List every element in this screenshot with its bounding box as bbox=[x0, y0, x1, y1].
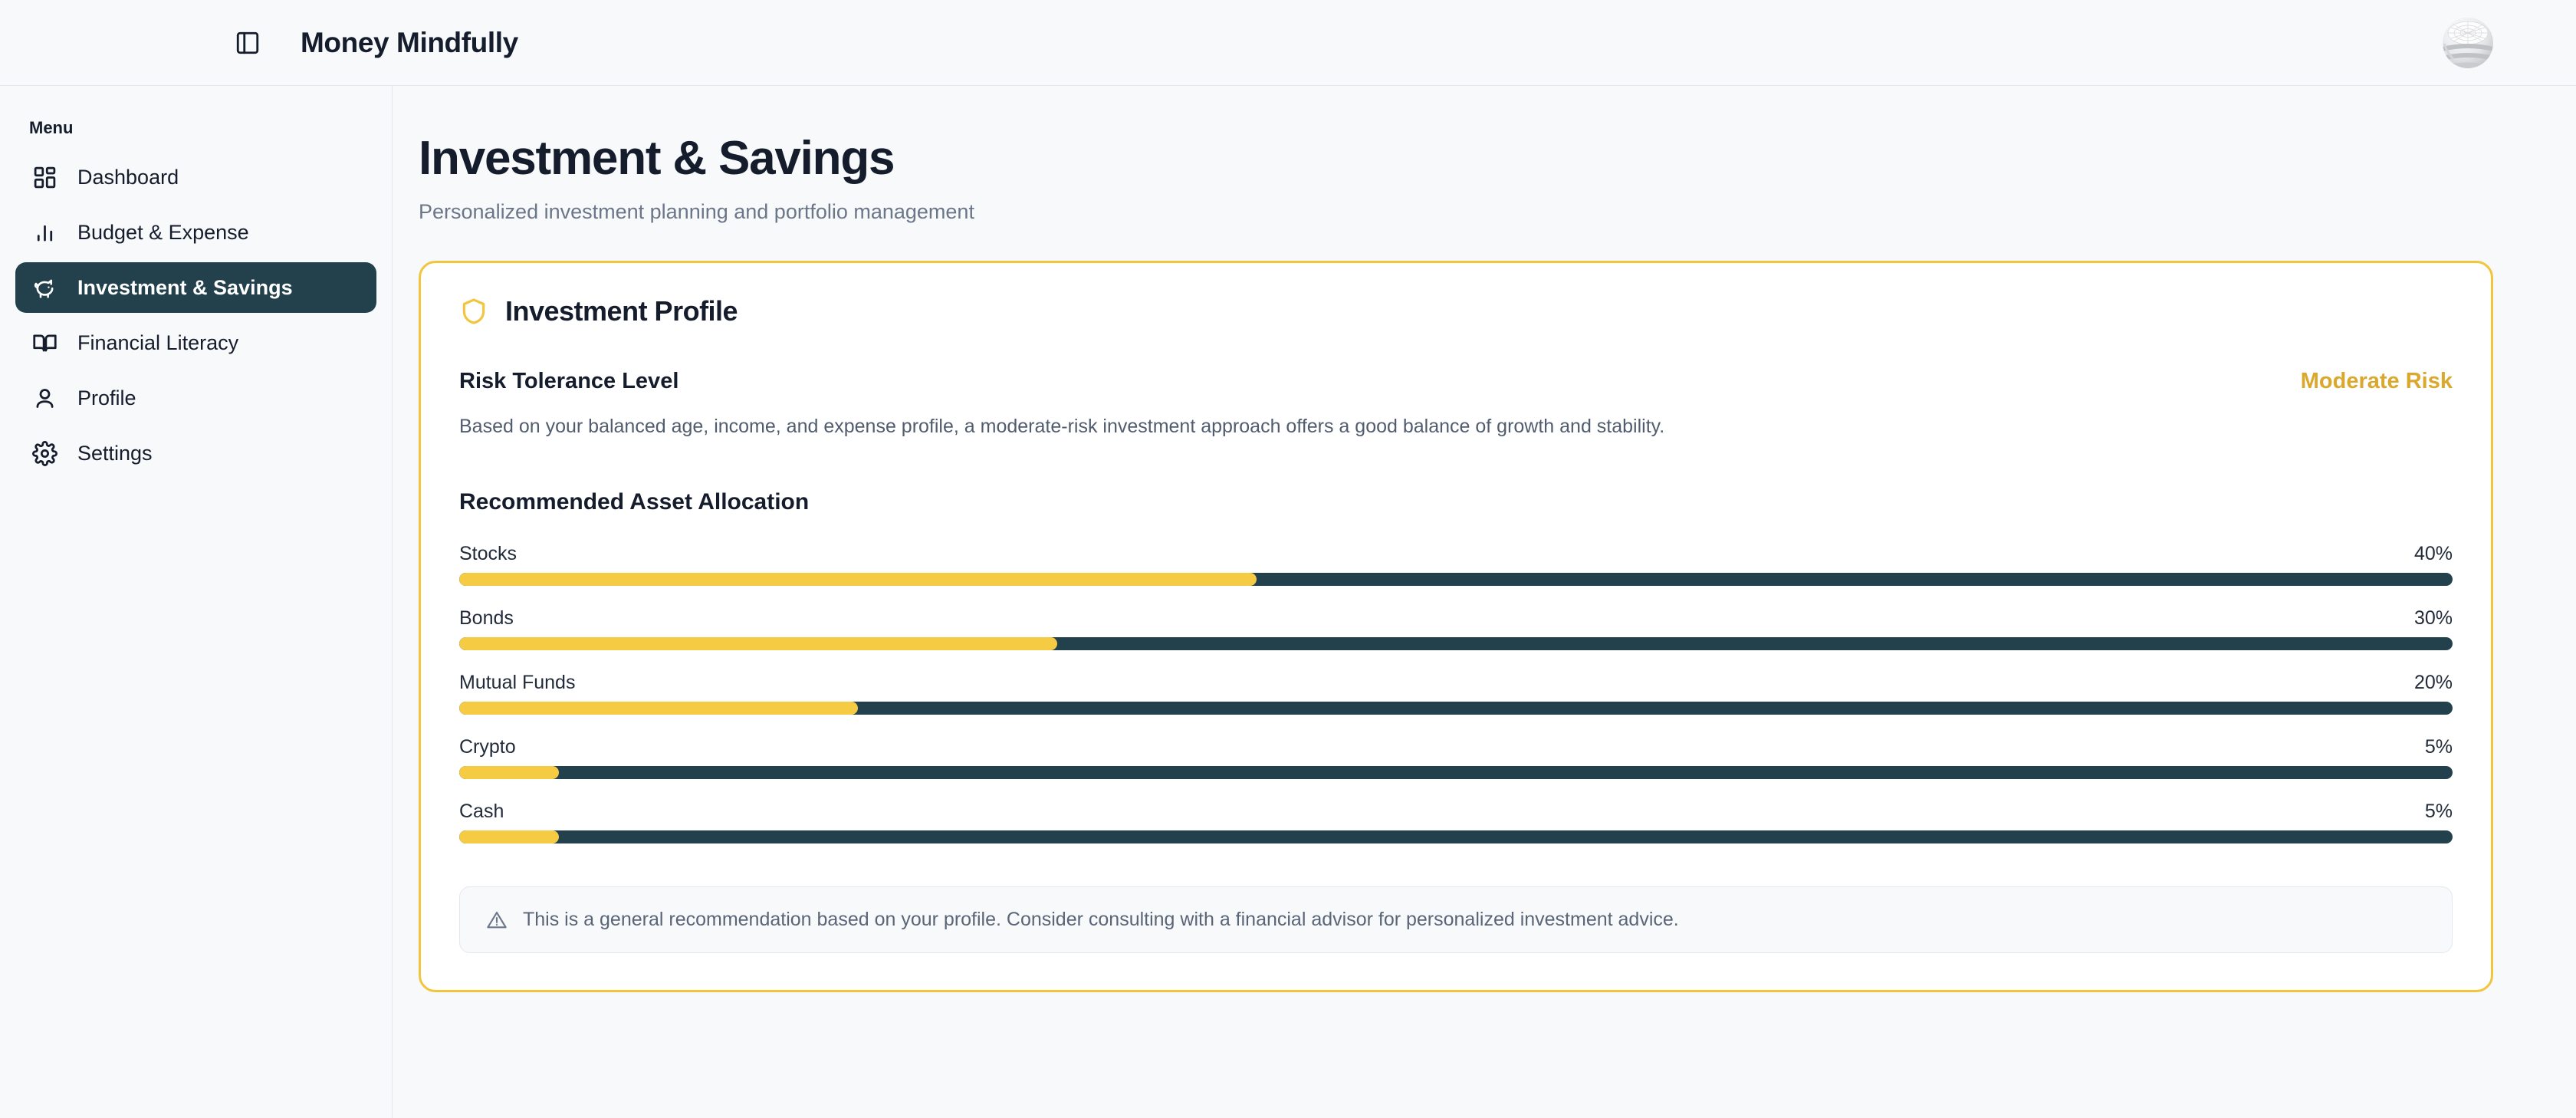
top-bar: Money Mindfully bbox=[0, 0, 2576, 86]
grid-icon bbox=[32, 165, 58, 190]
allocation-bar-fill bbox=[459, 573, 1257, 586]
sidebar-item-dashboard[interactable]: Dashboard bbox=[15, 152, 376, 202]
allocation-label: Cash bbox=[459, 801, 504, 823]
user-icon bbox=[32, 386, 58, 411]
disclaimer-note: This is a general recommendation based o… bbox=[459, 886, 2453, 953]
top-bar-left: Money Mindfully bbox=[0, 27, 518, 59]
allocation-bar-fill bbox=[459, 766, 559, 779]
sidebar-item-label: Budget & Expense bbox=[77, 221, 249, 245]
allocation-bar-track bbox=[459, 766, 2453, 779]
allocation-value: 5% bbox=[2425, 801, 2453, 823]
risk-tolerance-heading: Risk Tolerance Level bbox=[459, 369, 678, 394]
allocation-bar-fill bbox=[459, 830, 559, 843]
allocation-line: Mutual Funds 20% bbox=[459, 672, 2453, 694]
allocation-bar-track bbox=[459, 637, 2453, 650]
avatar[interactable] bbox=[2443, 18, 2493, 68]
sidebar-item-label: Settings bbox=[77, 442, 153, 465]
card-header: Investment Profile bbox=[459, 295, 2453, 327]
gear-icon bbox=[32, 441, 58, 466]
allocation-label: Crypto bbox=[459, 736, 516, 758]
allocation-heading: Recommended Asset Allocation bbox=[459, 489, 2453, 515]
sidebar-toggle-icon[interactable] bbox=[235, 30, 261, 56]
risk-description: Based on your balanced age, income, and … bbox=[459, 413, 2453, 440]
risk-level-badge: Moderate Risk bbox=[2301, 369, 2453, 394]
sidebar-item-label: Financial Literacy bbox=[77, 331, 238, 355]
main-content: Investment & Savings Personalized invest… bbox=[393, 86, 2576, 1118]
allocation-row-mutual-funds: Mutual Funds 20% bbox=[459, 672, 2453, 715]
allocation-line: Bonds 30% bbox=[459, 607, 2453, 630]
allocation-line: Stocks 40% bbox=[459, 543, 2453, 565]
sidebar-item-label: Investment & Savings bbox=[77, 276, 293, 300]
allocation-value: 30% bbox=[2414, 607, 2453, 630]
allocation-value: 40% bbox=[2414, 543, 2453, 565]
card-title: Investment Profile bbox=[505, 295, 738, 327]
allocation-bar-fill bbox=[459, 637, 1057, 650]
allocation-label: Mutual Funds bbox=[459, 672, 575, 694]
sidebar-item-label: Dashboard bbox=[77, 166, 179, 189]
allocation-value: 5% bbox=[2425, 736, 2453, 758]
allocation-bar-track bbox=[459, 702, 2453, 715]
allocation-row-crypto: Crypto 5% bbox=[459, 736, 2453, 779]
allocation-label: Bonds bbox=[459, 607, 514, 630]
allocation-bar-track bbox=[459, 830, 2453, 843]
allocation-value: 20% bbox=[2414, 672, 2453, 694]
brand-title: Money Mindfully bbox=[301, 27, 518, 59]
page-title: Investment & Savings bbox=[419, 133, 2493, 183]
sidebar-item-profile[interactable]: Profile bbox=[15, 373, 376, 423]
allocation-row-cash: Cash 5% bbox=[459, 801, 2453, 843]
allocation-line: Crypto 5% bbox=[459, 736, 2453, 758]
sidebar-item-financial-literacy[interactable]: Financial Literacy bbox=[15, 317, 376, 368]
allocation-bar-fill bbox=[459, 702, 858, 715]
allocation-label: Stocks bbox=[459, 543, 517, 565]
sidebar: Menu Dashboard Budget & Expense bbox=[0, 86, 393, 1118]
sidebar-item-budget-expense[interactable]: Budget & Expense bbox=[15, 207, 376, 258]
sidebar-item-investment-savings[interactable]: Investment & Savings bbox=[15, 262, 376, 313]
book-open-icon bbox=[32, 330, 58, 356]
shield-icon bbox=[459, 297, 488, 326]
warning-triangle-icon bbox=[486, 909, 508, 931]
app-shell: Menu Dashboard Budget & Expense bbox=[0, 86, 2576, 1118]
allocation-row-bonds: Bonds 30% bbox=[459, 607, 2453, 650]
piggy-bank-icon bbox=[32, 275, 58, 301]
risk-tolerance-row: Risk Tolerance Level Moderate Risk bbox=[459, 369, 2453, 394]
allocation-line: Cash 5% bbox=[459, 801, 2453, 823]
allocation-bar-track bbox=[459, 573, 2453, 586]
sidebar-item-label: Profile bbox=[77, 386, 136, 410]
sidebar-section-label: Menu bbox=[15, 106, 376, 152]
page-subtitle: Personalized investment planning and por… bbox=[419, 200, 2493, 224]
disclaimer-text: This is a general recommendation based o… bbox=[523, 909, 1679, 931]
sidebar-item-settings[interactable]: Settings bbox=[15, 428, 376, 478]
investment-profile-card: Investment Profile Risk Tolerance Level … bbox=[419, 261, 2493, 992]
allocation-row-stocks: Stocks 40% bbox=[459, 543, 2453, 586]
bar-chart-icon bbox=[32, 220, 58, 245]
